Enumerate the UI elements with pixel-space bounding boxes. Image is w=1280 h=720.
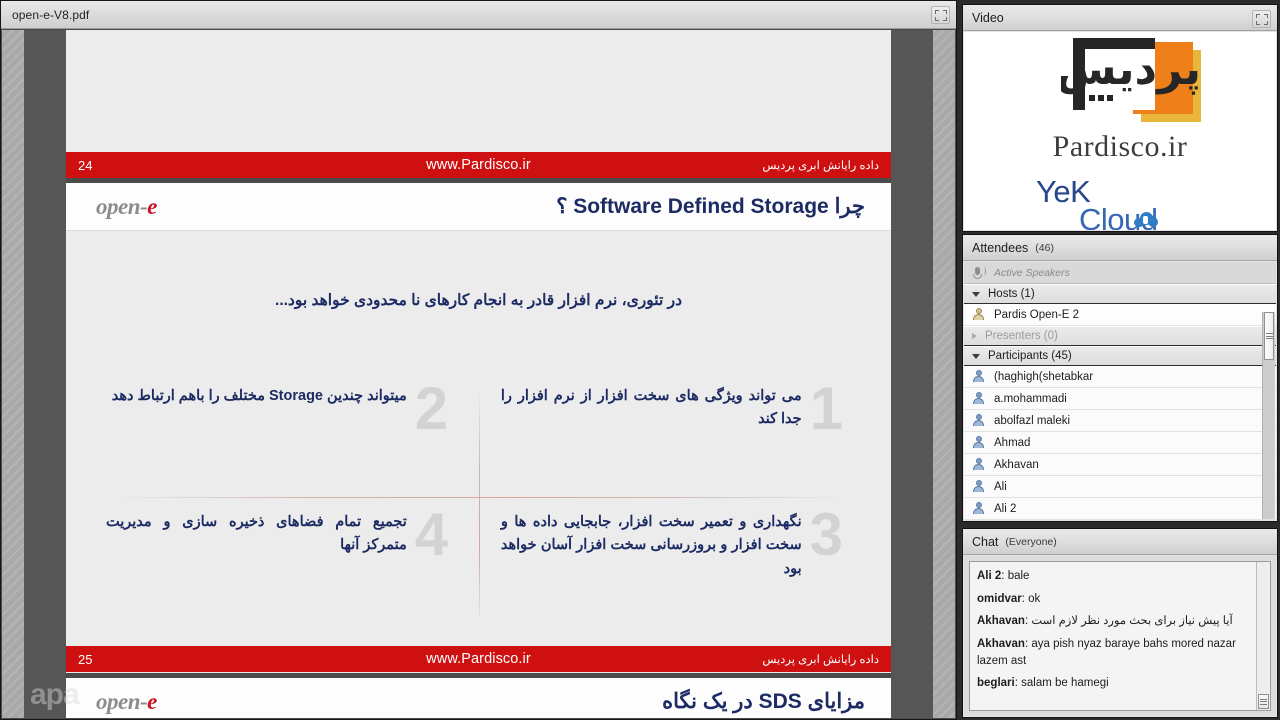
- open-e-logo-prefix: open-: [96, 194, 147, 219]
- chat-colon: :: [1025, 615, 1028, 627]
- chat-sender: Ali 2: [977, 570, 1001, 582]
- slide-25-company: داده رایانش ابری پردیس: [762, 652, 879, 666]
- quadrant-divider-horizontal: [118, 497, 839, 498]
- pardisco-branding: پردیس Pardisco.ir YeK Cloud: [964, 36, 1276, 230]
- chevron-down-icon: [972, 354, 980, 359]
- attendees-body[interactable]: Active Speakers Hosts (1) Pardis Open-E …: [964, 262, 1276, 520]
- chat-colon: :: [1015, 677, 1018, 689]
- share-fullscreen-button[interactable]: [931, 6, 950, 24]
- pardisco-logo-farsi: پردیس: [1061, 42, 1201, 112]
- quadrant-grid: می تواند ویژگی های سخت افزار از نرم افزا…: [106, 381, 851, 631]
- pdf-pages-container: 24 www.Pardisco.ir داده رایانش ابری پردی…: [66, 30, 891, 718]
- chat-scrollbar[interactable]: [1256, 562, 1270, 710]
- attendee-row[interactable]: abolfazl maleki: [964, 410, 1276, 432]
- chat-message: omidvar: ok: [977, 591, 1249, 608]
- group-label-presenters: Presenters (0): [985, 330, 1058, 342]
- slide-page-26[interactable]: open-e مزایای SDS در یک نگاه: [66, 678, 891, 718]
- open-e-logo-next: open-e: [96, 689, 157, 715]
- slide-25-footer: 25 www.Pardisco.ir داده رایانش ابری پردی…: [66, 646, 891, 672]
- chat-pod: Chat (Everyone) Ali 2: bale omidvar: ok: [962, 528, 1278, 718]
- attendee-row[interactable]: Akhavan: [964, 454, 1276, 476]
- chat-sender: Akhavan: [977, 615, 1025, 627]
- group-label-hosts: Hosts (1): [988, 288, 1035, 300]
- avatar-icon: [972, 458, 985, 471]
- chat-colon: :: [1025, 638, 1028, 650]
- quadrant-3-number: 3: [802, 507, 851, 562]
- fullscreen-icon: [935, 10, 947, 21]
- attendee-name: Ali 2: [994, 503, 1016, 515]
- video-pod-title: Video: [972, 11, 1004, 25]
- attendee-row[interactable]: (haghigh(shetabkar: [964, 366, 1276, 388]
- slide-25-body: در تئوری، نرم افزار قادر به انجام کارهای…: [66, 231, 891, 646]
- attendees-pod-title: Attendees: [972, 241, 1028, 255]
- chat-message: Akhavan: آیا پیش نیاز برای بحث مورد نظر …: [977, 613, 1249, 630]
- video-stage[interactable]: پردیس Pardisco.ir YeK Cloud: [964, 32, 1276, 230]
- attendee-row-host[interactable]: Pardis Open-E 2: [964, 304, 1276, 326]
- attendees-scrollbar[interactable]: [1262, 312, 1275, 519]
- avatar-icon: [972, 414, 985, 427]
- slide-24-content-blank: [66, 30, 891, 152]
- open-e-logo-next-prefix: open-: [96, 689, 147, 714]
- chat-text: bale: [1008, 570, 1030, 582]
- avatar-icon: [972, 392, 985, 405]
- slide-26-title: مزایای SDS در یک نگاه: [662, 689, 865, 714]
- attendee-name: Ahmad: [994, 437, 1030, 449]
- avatar-host-icon: [972, 308, 985, 321]
- chat-scope: (Everyone): [1005, 536, 1056, 548]
- share-pod: open-e-V8.pdf apa 24 www.Pardisco.ir: [0, 0, 957, 720]
- attendees-scrollbar-thumb[interactable]: [1264, 312, 1274, 360]
- quadrant-3-text: نگهداری و تعمیر سخت افزار، جابجایی داده …: [501, 507, 802, 581]
- open-e-logo-next-accent: e: [147, 689, 157, 714]
- chat-message: Akhavan: aya pish nyaz baraye bahs mored…: [977, 636, 1249, 669]
- active-speakers-row[interactable]: Active Speakers: [964, 262, 1276, 284]
- avatar-icon: [972, 480, 985, 493]
- group-header-hosts[interactable]: Hosts (1): [964, 284, 1276, 304]
- logo-dots: [1089, 88, 1116, 106]
- chevron-down-icon: [972, 292, 980, 297]
- attendee-name: Pardis Open-E 2: [994, 309, 1079, 321]
- video-pod-header: Video: [963, 5, 1277, 31]
- quadrant-2: میتواند چندین Storage مختلف را باهم ارتب…: [106, 381, 456, 489]
- chat-pod-title: Chat: [972, 535, 998, 549]
- attendees-count: (46): [1035, 242, 1054, 254]
- chat-text: ok: [1028, 593, 1040, 605]
- group-label-participants: Participants (45): [988, 350, 1072, 362]
- chat-colon: :: [1022, 593, 1025, 605]
- adobe-connect-meeting-window: open-e-V8.pdf apa 24 www.Pardisco.ir: [0, 0, 1280, 720]
- pardisco-logo-mark: پردیس: [1045, 36, 1195, 128]
- quadrant-1-text: می تواند ویژگی های سخت افزار از نرم افزا…: [501, 381, 802, 432]
- avatar-icon: [972, 436, 985, 449]
- quadrant-divider-vertical: [479, 387, 480, 617]
- slide-24-company: داده رایانش ابری پردیس: [762, 158, 879, 172]
- cloud-icon: [1134, 212, 1158, 227]
- slide-25-subtitle: در تئوری، نرم افزار قادر به انجام کارهای…: [106, 291, 851, 310]
- share-pod-titlebar: open-e-V8.pdf: [1, 1, 956, 29]
- attendee-name: Ali: [994, 481, 1007, 493]
- chat-sender: omidvar: [977, 593, 1022, 605]
- attendee-row[interactable]: a.mohammadi: [964, 388, 1276, 410]
- chat-transcript[interactable]: Ali 2: bale omidvar: ok Akhavan: آیا پیش…: [969, 561, 1271, 711]
- viewport-right-gutter: [933, 30, 955, 718]
- group-header-presenters[interactable]: Presenters (0): [964, 326, 1276, 346]
- attendee-row[interactable]: Ali 2: [964, 498, 1276, 520]
- quadrant-1-number: 1: [802, 381, 851, 436]
- video-pod: Video پردیس Pardisco.ir: [962, 4, 1278, 232]
- quadrant-4-text: تجمیع تمام فضاهای ذخیره سازی و مدیریت مت…: [106, 507, 407, 558]
- slide-page-25[interactable]: open-e چرا Software Defined Storage ؟ در…: [66, 183, 891, 673]
- chat-scrollbar-thumb[interactable]: [1258, 694, 1269, 709]
- attendees-pod: Attendees (46) Active Speakers Hosts (1)…: [962, 234, 1278, 522]
- chat-sender: Akhavan: [977, 638, 1025, 650]
- chat-body: Ali 2: bale omidvar: ok Akhavan: آیا پیش…: [964, 556, 1276, 716]
- chat-pod-header: Chat (Everyone): [963, 529, 1277, 555]
- chat-colon: :: [1001, 570, 1004, 582]
- open-e-logo: open-e: [96, 194, 157, 220]
- slide-24-footer: 24 www.Pardisco.ir داده رایانش ابری پردی…: [66, 152, 891, 178]
- attendee-name: abolfazl maleki: [994, 415, 1070, 427]
- quadrant-4: تجمیع تمام فضاهای ذخیره سازی و مدیریت مت…: [106, 507, 456, 615]
- open-e-logo-accent: e: [147, 194, 157, 219]
- avatar-icon: [972, 502, 985, 515]
- viewport-left-rail: [24, 30, 66, 718]
- video-fullscreen-button[interactable]: [1252, 10, 1271, 28]
- chat-message: Ali 2: bale: [977, 568, 1249, 585]
- attendee-name: Akhavan: [994, 459, 1039, 471]
- fullscreen-icon: [1256, 14, 1268, 25]
- yek-cloud-branding: YeK Cloud: [964, 178, 1276, 230]
- quadrant-2-number: 2: [407, 381, 456, 436]
- chat-message: beglari: salam be hamegi: [977, 675, 1249, 692]
- microphone-icon: [972, 266, 986, 280]
- attendee-name: (haghigh(shetabkar: [994, 371, 1093, 383]
- quadrant-4-number: 4: [407, 507, 456, 562]
- attendee-name: a.mohammadi: [994, 393, 1067, 405]
- pdf-document-viewport[interactable]: apa 24 www.Pardisco.ir داده رایانش ابری …: [2, 30, 955, 718]
- attendee-row[interactable]: Ali: [964, 476, 1276, 498]
- grip-icon: [1260, 697, 1267, 706]
- active-speakers-label: Active Speakers: [994, 267, 1070, 279]
- avatar-icon: [972, 370, 985, 383]
- attendee-row[interactable]: Ahmad: [964, 432, 1276, 454]
- chat-sender: beglari: [977, 677, 1015, 689]
- slide-26-header: open-e مزایای SDS در یک نگاه: [66, 678, 891, 718]
- viewport-right-rail: [891, 30, 933, 718]
- quadrant-2-text: میتواند چندین Storage مختلف را باهم ارتب…: [106, 381, 407, 408]
- grip-icon: [1266, 332, 1273, 341]
- right-pod-column: Video پردیس Pardisco.ir: [960, 0, 1280, 720]
- chat-text: salam be hamegi: [1021, 677, 1109, 689]
- quadrant-3: نگهداری و تعمیر سخت افزار، جابجایی داده …: [501, 507, 851, 615]
- slide-page-24[interactable]: 24 www.Pardisco.ir داده رایانش ابری پردی…: [66, 30, 891, 178]
- attendees-pod-header: Attendees (46): [963, 235, 1277, 261]
- pardisco-brand-name: Pardisco.ir: [964, 130, 1276, 164]
- chevron-right-icon: [972, 333, 977, 339]
- chat-message-list: Ali 2: bale omidvar: ok Akhavan: آیا پیش…: [970, 562, 1256, 710]
- slide-25-header: open-e چرا Software Defined Storage ؟: [66, 183, 891, 231]
- slide-25-title: چرا Software Defined Storage ؟: [556, 194, 865, 219]
- share-pod-title: open-e-V8.pdf: [1, 8, 89, 22]
- viewport-left-gutter: [2, 30, 24, 718]
- group-header-participants[interactable]: Participants (45): [964, 346, 1276, 366]
- chat-text: آیا پیش نیاز برای بحث مورد نظر لازم است: [1031, 615, 1232, 627]
- quadrant-1: می تواند ویژگی های سخت افزار از نرم افزا…: [501, 381, 851, 489]
